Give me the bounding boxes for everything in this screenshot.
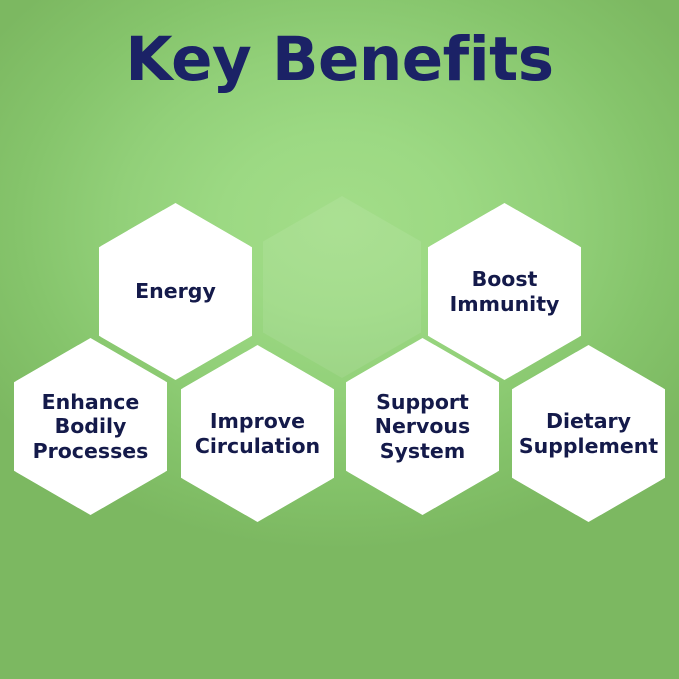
benefit-label-improve-circulation: Improve Circulation xyxy=(189,409,326,458)
benefit-label-dietary-supplement: Dietary Supplement xyxy=(513,409,664,458)
benefit-hexagon-dietary-supplement[interactable]: Dietary Supplement xyxy=(512,345,665,522)
benefit-hexagon-support-nervous-system[interactable]: Support Nervous System xyxy=(346,338,499,515)
benefit-label-boost-immunity: Boost Immunity xyxy=(444,267,566,316)
benefit-hexagon-energy[interactable]: Energy xyxy=(99,203,252,380)
benefit-hexagon-boost-immunity[interactable]: Boost Immunity xyxy=(428,203,581,380)
benefit-label-support-nervous-system: Support Nervous System xyxy=(369,390,476,464)
benefit-label-enhance-bodily-processes: Enhance Bodily Processes xyxy=(27,390,155,464)
benefit-label-energy: Energy xyxy=(129,279,222,304)
benefit-hexagon-enhance-bodily-processes[interactable]: Enhance Bodily Processes xyxy=(14,338,167,515)
benefit-hexagon-improve-circulation[interactable]: Improve Circulation xyxy=(181,345,334,522)
decorative-hexagon-center xyxy=(263,196,421,378)
page-title: Key Benefits xyxy=(0,28,679,92)
infographic-canvas: Key Benefits Energy Boost Immunity Enhan… xyxy=(0,0,679,679)
